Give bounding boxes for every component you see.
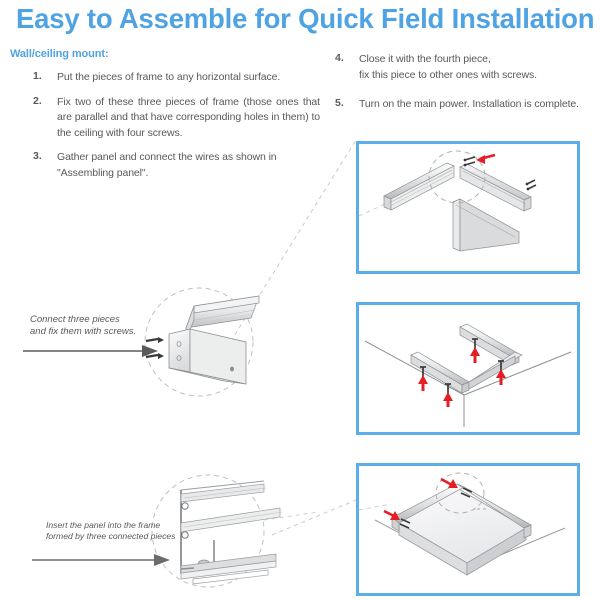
hole-marker [182,503,188,509]
diagram-panel-2 [356,302,580,435]
completed-panel-illustration [359,466,577,593]
frame-to-ceiling-illustration [359,305,577,432]
step-text: Turn on the main power. Installation is … [359,97,600,113]
frame-rail-third [453,199,519,251]
bracket-plate [169,329,246,384]
panel-layers [181,554,276,584]
bracket-detail-illustration [18,286,308,416]
screw-icon [526,180,536,190]
detail-callout-connect-pieces: Connect three pieces and fix them with s… [18,286,308,416]
frame-rail-left [411,352,469,393]
red-arrow-icon [418,375,428,391]
instruction-page: Easy to Assemble for Quick Field Install… [0,0,600,600]
section-heading: Wall/ceiling mount: [10,48,109,60]
step-text: Put the pieces of frame to any horizonta… [57,70,320,86]
red-arrow-icon [470,347,480,363]
step-text: Close it with the fourth piece, fix this… [359,52,600,83]
callout-label: Insert the panel into the frame formed b… [46,520,211,542]
step-text: Fix two of these three pieces of frame (… [57,95,320,142]
step-number: 1. [33,70,42,82]
frame-rail-right [460,164,531,211]
list-item: 3. Gather panel and connect the wires as… [0,150,320,181]
screw-hole [230,367,234,372]
list-item: 4. Close it with the fourth piece, fix t… [325,52,600,83]
frame-rail-left [384,163,454,210]
callout-label: Connect three pieces and fix them with s… [30,314,180,338]
frame-rail-right [469,352,522,389]
page-title: Easy to Assemble for Quick Field Install… [16,0,586,38]
steps-list-right: 4. Close it with the fourth piece, fix t… [325,52,600,122]
step-number: 3. [33,150,42,162]
callout-arrow-icon [32,554,170,566]
list-item: 2. Fix two of these three pieces of fram… [0,95,320,142]
diagram-panel-3 [356,463,580,596]
frame-corner-assembly-illustration [359,144,577,271]
red-arrow-icon [443,392,453,407]
red-arrow-icon [441,479,458,488]
step-text: Gather panel and connect the wires as sh… [57,150,320,181]
red-arrow-icon [476,155,495,164]
callout-arrow-icon [23,345,158,357]
diagram-panel-1 [356,141,580,274]
step-number: 4. [335,52,344,64]
step-number: 5. [335,97,344,109]
list-item: 5. Turn on the main power. Installation … [325,97,600,113]
steps-list-left: 1. Put the pieces of frame to any horizo… [0,70,320,190]
list-item: 1. Put the pieces of frame to any horizo… [0,70,320,86]
step-number: 2. [33,95,42,107]
detail-callout-insert-panel: Insert the panel into the frame formed b… [18,468,318,600]
